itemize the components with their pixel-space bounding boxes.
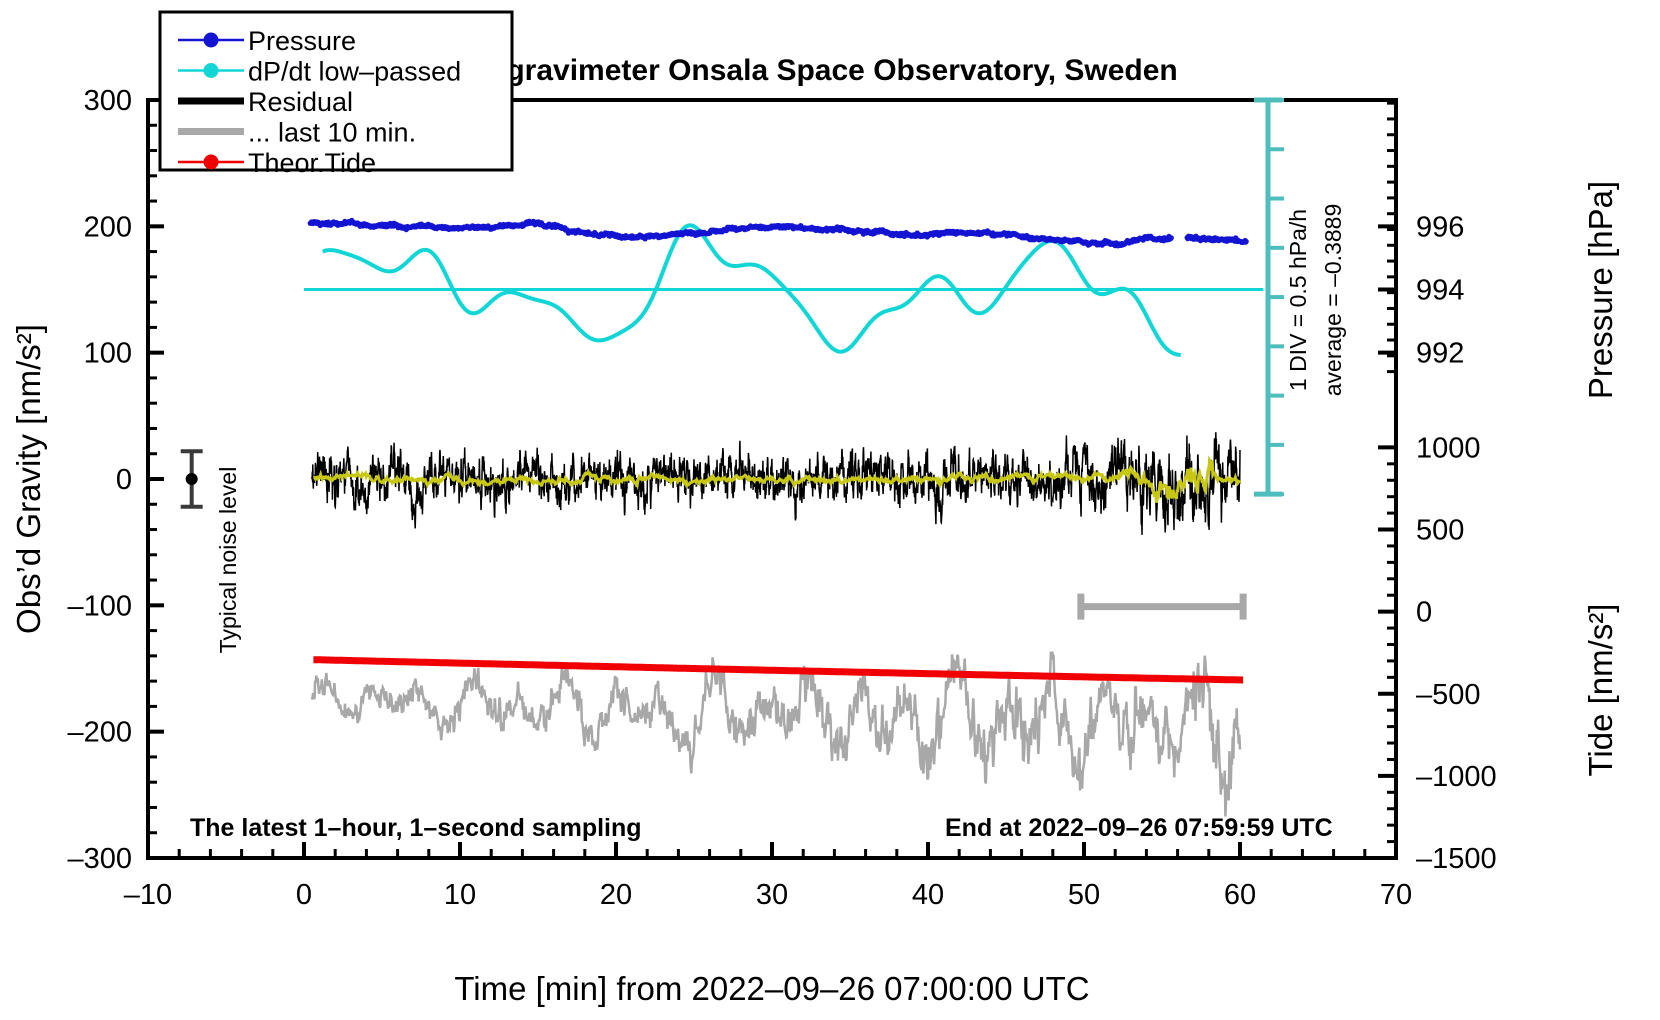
x-tick-label: 60 (1224, 879, 1256, 911)
y-tick-label-pressure: 996 (1416, 211, 1464, 243)
chart-page: –10010203040506070–300–200–1000100200300… (0, 0, 1660, 1020)
legend-label: Pressure (248, 26, 356, 56)
footer-left-text: The latest 1–hour, 1–second sampling (190, 814, 642, 842)
legend-label: dP/dt low–passed (248, 57, 461, 87)
y-tick-label-tide: 500 (1416, 515, 1464, 547)
footer-right-text: End at 2022–09–26 07:59:59 UTC (945, 814, 1333, 842)
x-tick-label: 0 (296, 879, 312, 911)
average-label: average = –0.3889 (1320, 204, 1346, 396)
y-tick-label-tide: –500 (1416, 679, 1481, 711)
gravimeter-chart: –10010203040506070–300–200–1000100200300… (0, 0, 1660, 1020)
legend-label: ... last 10 min. (248, 118, 416, 148)
x-tick-label: 40 (912, 879, 944, 911)
div-scale-label: 1 DIV = 0.5 hPa/h (1285, 209, 1311, 391)
y-tick-label-pressure: 994 (1416, 275, 1464, 307)
y-tick-label-left: –100 (67, 590, 132, 622)
y-tick-label-left: 0 (116, 464, 132, 496)
y-tick-label-left: 100 (84, 338, 132, 370)
x-tick-label: –10 (124, 879, 172, 911)
legend-dot-marker (204, 63, 219, 78)
last-10-min-span-bar (1081, 594, 1243, 620)
typical-noise-level-marker (181, 451, 203, 507)
series-theor-tide (313, 660, 1243, 680)
legend-dot-marker (204, 155, 219, 170)
x-tick-label: 10 (444, 879, 476, 911)
y-tick-label-left: 300 (84, 85, 132, 117)
y-tick-label-tide: 1000 (1416, 432, 1481, 464)
legend-dot-marker (204, 33, 219, 48)
y-tick-label-pressure: 992 (1416, 338, 1464, 370)
legend: PressuredP/dt low–passedResidual... last… (160, 12, 512, 178)
scale-bar (1254, 100, 1284, 494)
legend-label: Theor.Tide (248, 148, 376, 178)
y-tick-label-left: –300 (67, 843, 132, 875)
y-tick-label-tide: –1500 (1416, 843, 1497, 875)
y-tick-label-left: 200 (84, 211, 132, 243)
y-tick-label-tide: –1000 (1416, 761, 1497, 793)
legend-label: Residual (248, 87, 353, 117)
y-tick-label-left: –200 (67, 717, 132, 749)
x-axis-label: Time [min] from 2022–09–26 07:00:00 UTC (454, 970, 1089, 1007)
y-tick-label-tide: 0 (1416, 597, 1432, 629)
y-axis-label-pressure: Pressure [hPa] (1582, 181, 1619, 399)
axes: –10010203040506070–300–200–1000100200300… (67, 85, 1496, 911)
x-tick-label: 30 (756, 879, 788, 911)
series-pressure (308, 218, 1249, 249)
y-axis-label-tide: Tide [nm/s²] (1582, 604, 1619, 777)
x-tick-label: 70 (1380, 879, 1412, 911)
y-axis-label-left: Obs’d Gravity [nm/s²] (10, 324, 47, 634)
typical-noise-level-label: Typical noise level (215, 467, 241, 654)
x-tick-label: 50 (1068, 879, 1100, 911)
x-tick-label: 20 (600, 879, 632, 911)
